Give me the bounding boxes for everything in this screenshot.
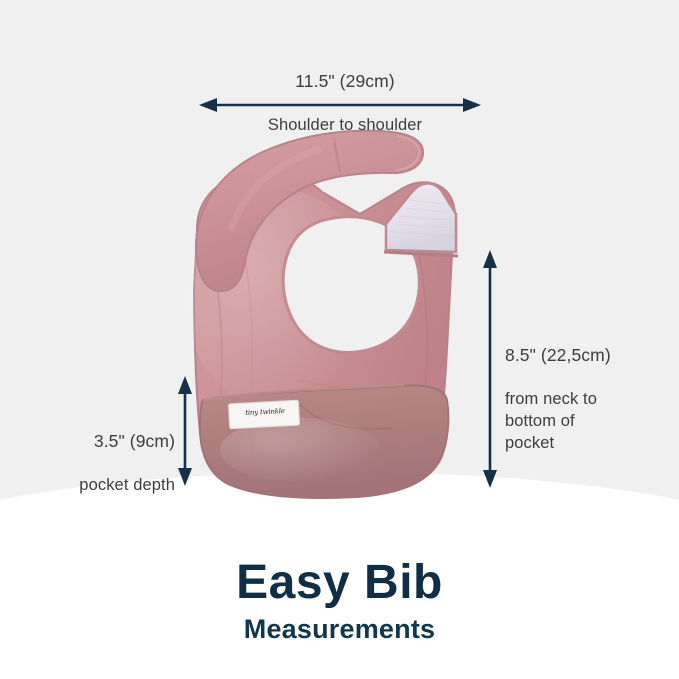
- label-neck-description: from neck to bottom of pocket: [505, 388, 675, 454]
- label-shoulder-description: Shoulder to shoulder: [180, 114, 510, 136]
- diagram-canvas: tiny twinkle 11.5" (29cm) Shoulder to sh…: [0, 0, 679, 679]
- label-shoulder-to-shoulder: 11.5" (29cm) Shoulder to shoulder: [180, 48, 510, 158]
- label-pocket-depth: 3.5" (9cm) pocket depth: [20, 408, 175, 518]
- product-title: Easy Bib: [0, 556, 679, 610]
- bib-pocket: [200, 385, 448, 498]
- label-shoulder-value: 11.5" (29cm): [180, 70, 510, 92]
- arrow-pocket-depth: [174, 372, 196, 490]
- label-neck-to-pocket: 8.5" (22,5cm) from neck to bottom of poc…: [505, 322, 675, 476]
- arrow-neck-to-pocket: [479, 246, 501, 492]
- label-pocket-description: pocket depth: [20, 474, 175, 496]
- footer-title-block: Easy Bib Measurements: [0, 556, 679, 646]
- label-neck-value: 8.5" (22,5cm): [505, 344, 675, 366]
- label-pocket-value: 3.5" (9cm): [20, 430, 175, 452]
- product-subtitle: Measurements: [0, 612, 679, 646]
